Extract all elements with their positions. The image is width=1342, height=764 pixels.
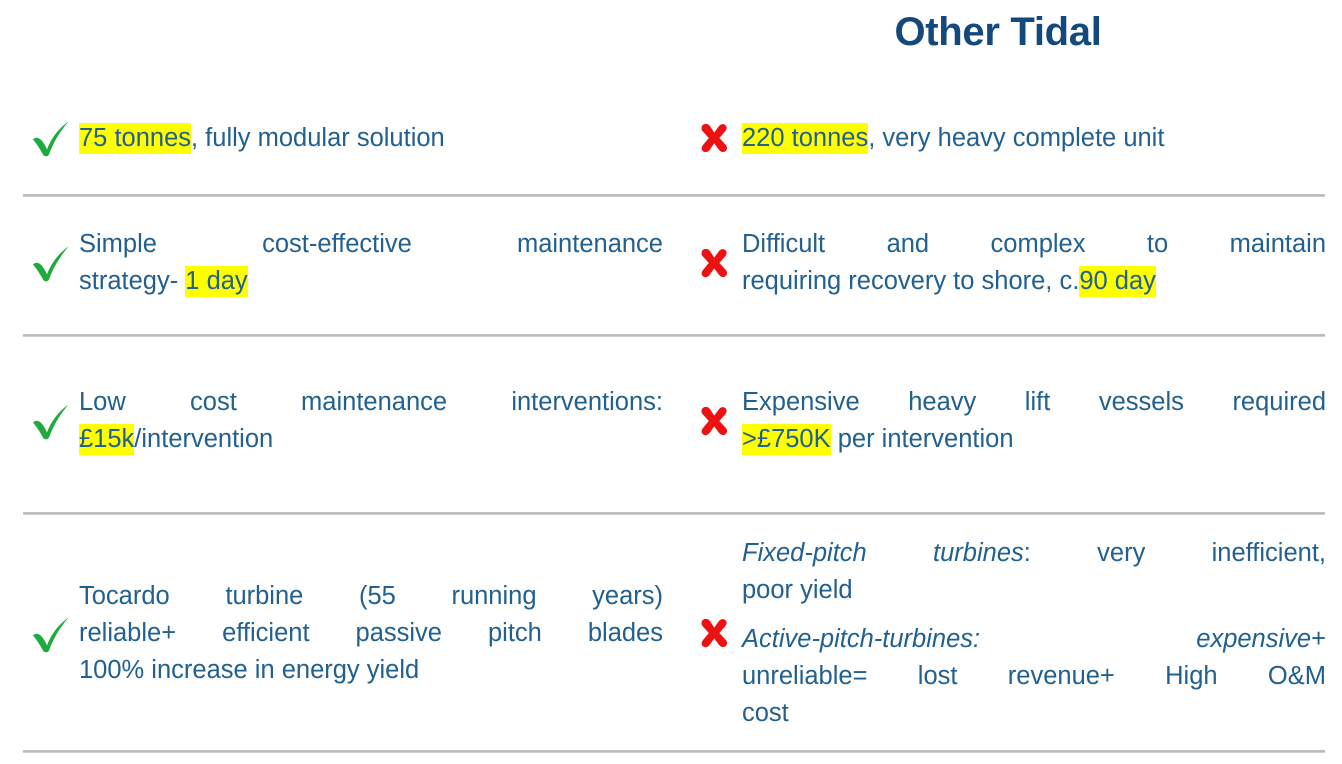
row-divider bbox=[23, 750, 1325, 753]
body-text: Tocardo turbine (55 running years) bbox=[79, 582, 663, 610]
text-line: strategy- 1 day bbox=[79, 263, 663, 300]
body-text: Simple cost-effective maintenance bbox=[79, 230, 663, 258]
body-text bbox=[980, 625, 1196, 653]
text-line: Tocardo turbine (55 running years) bbox=[79, 578, 663, 615]
table-row: Low cost maintenance interventions:£15k/… bbox=[0, 337, 1342, 514]
check-mark-icon bbox=[23, 399, 79, 443]
paragraph-gap bbox=[742, 609, 1326, 621]
row3-cell-right: Expensive heavy lift vessels required>£7… bbox=[686, 371, 1326, 471]
row4-text-right: Fixed-pitch turbines: very inefficient,p… bbox=[742, 535, 1326, 732]
row4-text-left: Tocardo turbine (55 running years)reliab… bbox=[79, 578, 663, 689]
row4-cell-right: Fixed-pitch turbines: very inefficient,p… bbox=[686, 533, 1326, 733]
table-header: Other Tidal bbox=[0, 0, 1342, 80]
body-text: , very heavy complete unit bbox=[868, 124, 1164, 152]
page-title-right: Other Tidal bbox=[671, 6, 1325, 58]
body-text: reliable+ efficient passive pitch blades bbox=[79, 619, 663, 647]
text-line: Expensive heavy lift vessels required bbox=[742, 384, 1326, 421]
text-line: Simple cost-effective maintenance bbox=[79, 226, 663, 263]
text-line: poor yield bbox=[742, 572, 1326, 609]
highlighted-text: 90 day bbox=[1079, 266, 1156, 297]
emphasis-text: expensive bbox=[1196, 625, 1311, 653]
text-line: reliable+ efficient passive pitch blades bbox=[79, 615, 663, 652]
row3-text-right: Expensive heavy lift vessels required>£7… bbox=[742, 384, 1326, 458]
row1-text-right: 220 tonnes, very heavy complete unit bbox=[742, 120, 1326, 157]
body-text: unreliable= lost revenue+ High O&M bbox=[742, 662, 1326, 690]
row3-cell-left: Low cost maintenance interventions:£15k/… bbox=[23, 371, 663, 471]
row2-cell-right: Difficult and complex to maintainrequiri… bbox=[686, 213, 1326, 313]
text-line: >£750K per intervention bbox=[742, 421, 1326, 458]
header-cell-left bbox=[23, 0, 671, 80]
row3-text-left: Low cost maintenance interventions:£15k/… bbox=[79, 384, 663, 458]
body-text: per intervention bbox=[831, 425, 1014, 453]
emphasis-text: Active-pitch-turbines: bbox=[742, 625, 980, 653]
row1-text-left: 75 tonnes, fully modular solution bbox=[79, 120, 663, 157]
cross-mark-icon bbox=[686, 616, 742, 650]
row4-cell-left: Tocardo turbine (55 running years)reliab… bbox=[23, 571, 663, 696]
check-mark-icon bbox=[23, 241, 79, 285]
text-line: £15k/intervention bbox=[79, 421, 663, 458]
row2-cell-left: Simple cost-effective maintenancestrateg… bbox=[23, 213, 663, 313]
text-line: Fixed-pitch turbines: very inefficient, bbox=[742, 535, 1326, 572]
row1-cell-left: 75 tonnes, fully modular solution bbox=[23, 98, 663, 178]
body-text: : very inefficient, bbox=[1024, 539, 1326, 567]
highlighted-text: £15k bbox=[79, 424, 134, 455]
check-mark-icon bbox=[23, 612, 79, 656]
cross-mark-icon bbox=[686, 404, 742, 438]
highlighted-text: 75 tonnes bbox=[79, 123, 191, 154]
comparison-table-slide: Other Tidal 75 tonnes, fully modular sol… bbox=[0, 0, 1342, 764]
body-text: /intervention bbox=[134, 425, 273, 453]
highlighted-text: >£750K bbox=[742, 424, 831, 455]
header-cell-right: Other Tidal bbox=[671, 6, 1325, 80]
row2-text-right: Difficult and complex to maintainrequiri… bbox=[742, 226, 1326, 300]
text-line: Active-pitch-turbines: expensive+ bbox=[742, 621, 1326, 658]
row2-text-left: Simple cost-effective maintenancestrateg… bbox=[79, 226, 663, 300]
body-text: + bbox=[1311, 625, 1326, 653]
body-text: 100% increase in energy yield bbox=[79, 656, 419, 684]
body-text: Difficult and complex to maintain bbox=[742, 230, 1326, 258]
body-text: poor yield bbox=[742, 576, 853, 604]
body-text: strategy- bbox=[79, 267, 185, 295]
body-text: cost bbox=[742, 699, 789, 727]
check-mark-icon bbox=[23, 116, 79, 160]
text-line: cost bbox=[742, 695, 1326, 732]
text-line: Low cost maintenance interventions: bbox=[79, 384, 663, 421]
body-text: , fully modular solution bbox=[191, 124, 445, 152]
cross-mark-icon bbox=[686, 121, 742, 155]
text-line: unreliable= lost revenue+ High O&M bbox=[742, 658, 1326, 695]
highlighted-text: 220 tonnes bbox=[742, 123, 868, 154]
cross-mark-icon bbox=[686, 246, 742, 280]
text-line: 220 tonnes, very heavy complete unit bbox=[742, 120, 1326, 157]
body-text: Low cost maintenance interventions: bbox=[79, 388, 663, 416]
table-row: Tocardo turbine (55 running years)reliab… bbox=[0, 515, 1342, 752]
text-line: Difficult and complex to maintain bbox=[742, 226, 1326, 263]
table-row: Simple cost-effective maintenancestrateg… bbox=[0, 197, 1342, 336]
text-line: 100% increase in energy yield bbox=[79, 652, 663, 689]
table-row: 75 tonnes, fully modular solution220 ton… bbox=[0, 80, 1342, 196]
highlighted-text: 1 day bbox=[185, 266, 247, 297]
body-text: Expensive heavy lift vessels required bbox=[742, 388, 1326, 416]
row1-cell-right: 220 tonnes, very heavy complete unit bbox=[686, 98, 1326, 178]
emphasis-text: Fixed-pitch turbines bbox=[742, 539, 1024, 567]
body-text: requiring recovery to shore, c. bbox=[742, 267, 1079, 295]
text-line: requiring recovery to shore, c.90 day bbox=[742, 263, 1326, 300]
text-line: 75 tonnes, fully modular solution bbox=[79, 120, 663, 157]
